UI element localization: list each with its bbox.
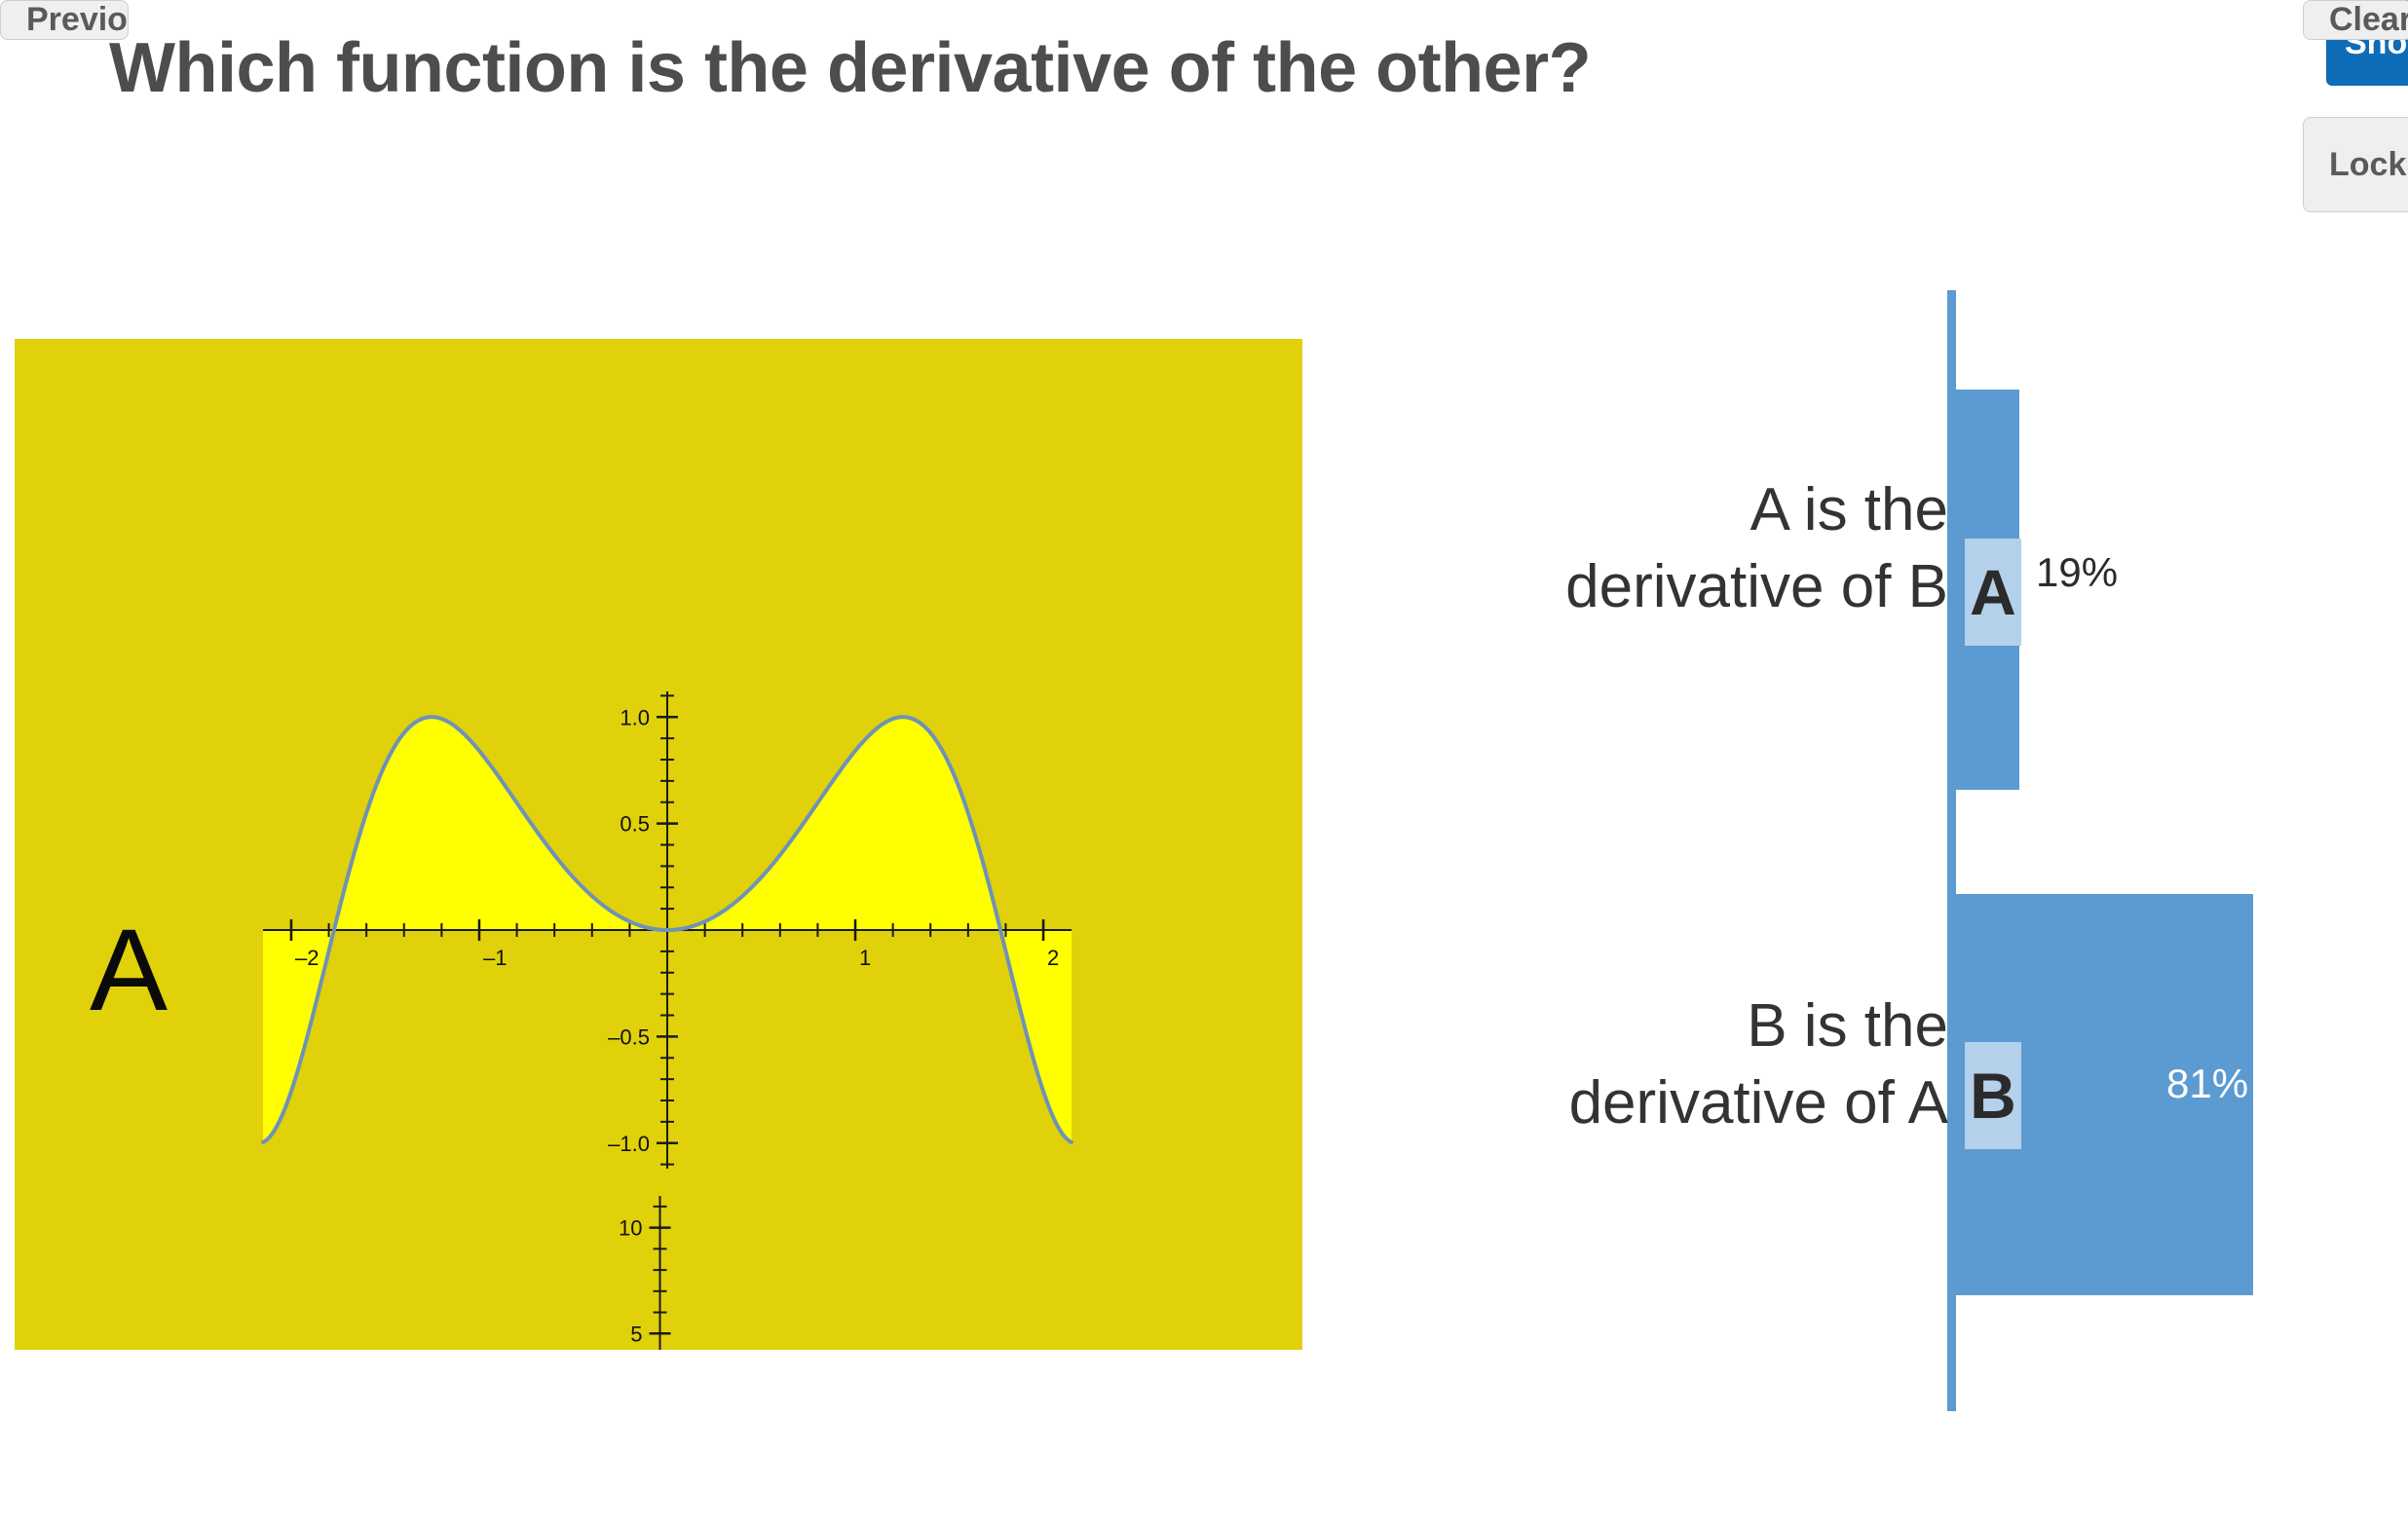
lock-button[interactable]: Lock <box>2303 117 2408 212</box>
svg-text:–2: –2 <box>295 946 319 970</box>
chart-b-svg: –2–112–10–5510 <box>239 1186 1081 1350</box>
page-title: Which function is the derivative of the … <box>109 27 2408 110</box>
svg-text:–0.5: –0.5 <box>608 1025 650 1049</box>
svg-text:10: 10 <box>619 1216 642 1241</box>
clear-button[interactable]: Clear <box>2303 0 2408 40</box>
svg-text:5: 5 <box>630 1322 642 1346</box>
previous-button[interactable]: Previo <box>0 0 129 40</box>
svg-text:2: 2 <box>1047 946 1059 970</box>
chart-a-svg: –2–112–1.0–0.50.51.0 <box>253 682 1081 1178</box>
svg-text:–1: –1 <box>483 946 507 970</box>
poll-badge-a: A <box>1965 539 2021 646</box>
figure-label-a: A <box>90 912 168 1028</box>
poll-badge-b: B <box>1965 1042 2021 1149</box>
poll-axis-line <box>1947 290 1956 1411</box>
slide-stage: Which function is the derivative of the … <box>0 0 2408 1528</box>
poll-percent-a: 19% <box>2036 552 2118 593</box>
poll-bar-a <box>1948 390 2019 790</box>
function-figure-panel: –2–112–1.0–0.50.51.0 –2–112–10–5510 A B <box>15 339 1302 1350</box>
chart-a-sin-x-squared: –2–112–1.0–0.50.51.0 <box>253 682 1081 1178</box>
svg-text:1: 1 <box>859 946 871 970</box>
svg-text:1.0: 1.0 <box>620 705 650 729</box>
chart-b-derivative: –2–112–10–5510 <box>239 1186 1081 1350</box>
poll-bar-b <box>1948 894 2253 1295</box>
poll-percent-b: 81% <box>2166 1063 2248 1104</box>
chart-b-tick-labels: –2–112–10–5510 <box>281 1216 1058 1350</box>
svg-text:–1.0: –1.0 <box>608 1132 650 1156</box>
svg-text:0.5: 0.5 <box>620 812 650 837</box>
